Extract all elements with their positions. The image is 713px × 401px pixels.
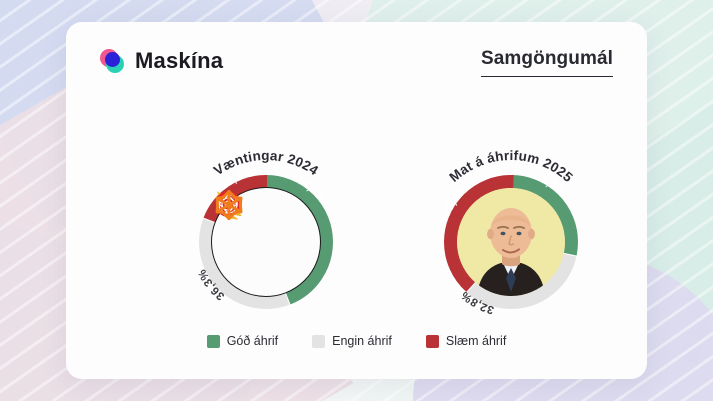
brand-name: Maskína (135, 48, 223, 74)
donut-chart-vaentingar-2024: Væntingar 2024 44,0% 36,3% 19,7% (166, 142, 366, 342)
slide-canvas: Maskína Samgöngumál Væntingar (0, 0, 713, 401)
minister-portrait-photo (457, 188, 565, 296)
legend-swatch-good-icon (207, 335, 220, 348)
donut-chart-mat-a-ahrifum-2025: Mat á áhrifum 2025 28,2% 32,8% 39,1% (411, 142, 611, 342)
chart-center-party-logos (211, 187, 321, 297)
legend-item-good: Góð áhrif (207, 334, 278, 348)
chart-center-minister-portrait (457, 188, 565, 296)
legend-label-bad: Slæm áhrif (446, 334, 506, 348)
legend-label-good: Góð áhrif (227, 334, 278, 348)
legend-item-none: Engin áhrif (312, 334, 392, 348)
party-logo-snowflake-icon (212, 188, 246, 222)
maskina-blob-logo-icon (100, 48, 126, 74)
brand-logo: Maskína (100, 48, 223, 74)
legend-swatch-none-icon (312, 335, 325, 348)
chart-legend: Góð áhrif Engin áhrif Slæm áhrif (66, 334, 647, 348)
chart-title-left: Væntingar 2024 (211, 148, 321, 178)
page-title: Samgöngumál (481, 48, 613, 77)
legend-swatch-bad-icon (426, 335, 439, 348)
content-card: Maskína Samgöngumál Væntingar (66, 22, 647, 379)
legend-label-none: Engin áhrif (332, 334, 392, 348)
legend-item-bad: Slæm áhrif (426, 334, 506, 348)
